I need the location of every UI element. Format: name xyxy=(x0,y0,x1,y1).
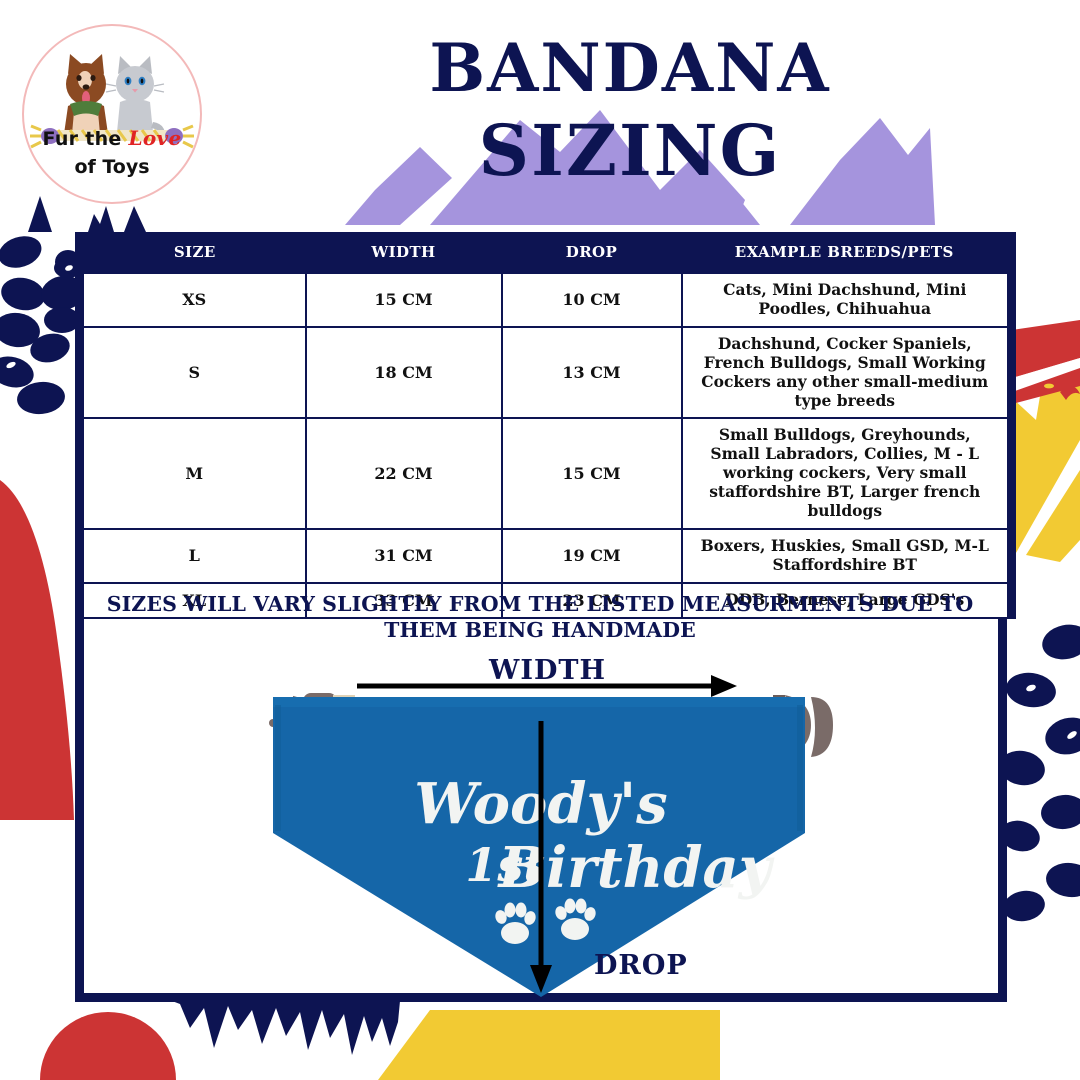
cell-width: 18 CM xyxy=(306,327,502,419)
logo-fur-the: Fur the xyxy=(42,128,121,150)
handmade-disclaimer: SIZES WILL VARY SLIGHTLY FROM THE LISTED… xyxy=(95,592,985,643)
cell-width: 22 CM xyxy=(306,418,502,529)
red-bottom-circle xyxy=(40,1012,176,1080)
bandana-illustration: Woody's 1st Birthday xyxy=(75,645,1007,1000)
cell-size: M xyxy=(80,418,306,529)
cell-width: 15 CM xyxy=(306,273,502,327)
sizing-table: SIZE WIDTH DROP EXAMPLE BREEDS/PETS XS 1… xyxy=(75,232,1016,619)
width-label: WIDTH xyxy=(489,655,606,686)
cell-breeds: Cats, Mini Dachshund, Mini Poodles, Chih… xyxy=(682,273,1012,327)
brand-logo: Fur the Love of Toys xyxy=(22,24,202,204)
cell-drop: 10 CM xyxy=(502,273,682,327)
table-row: L 31 CM 19 CM Boxers, Huskies, Small GSD… xyxy=(80,529,1012,583)
bandana-text-birthday: Birthday xyxy=(497,835,775,901)
title-line-1: BANDANA xyxy=(300,38,960,99)
header-drop: DROP xyxy=(502,232,682,273)
cell-drop: 19 CM xyxy=(502,529,682,583)
logo-love-word: Love xyxy=(129,126,182,150)
red-right-band xyxy=(1012,320,1080,404)
table-row: XS 15 CM 10 CM Cats, Mini Dachshund, Min… xyxy=(80,273,1012,327)
red-left-shape xyxy=(0,480,74,820)
cell-size: L xyxy=(80,529,306,583)
table-row: S 18 CM 13 CM Dachshund, Cocker Spaniels… xyxy=(80,327,1012,419)
bandana-diagram: Woody's 1st Birthday xyxy=(75,645,1007,1000)
cell-size: XS xyxy=(80,273,306,327)
cell-drop: 15 CM xyxy=(502,418,682,529)
drop-label: DROP xyxy=(594,950,688,981)
table-row: M 22 CM 15 CM Small Bulldogs, Greyhounds… xyxy=(80,418,1012,529)
logo-text-line2: of Toys xyxy=(24,156,200,178)
dog-icon xyxy=(64,54,108,134)
cell-breeds: Small Bulldogs, Greyhounds, Small Labrad… xyxy=(682,418,1012,529)
cell-breeds: Boxers, Huskies, Small GSD, M-L Stafford… xyxy=(682,529,1012,583)
yellow-bottom-shape xyxy=(378,1010,720,1080)
table-header-row: SIZE WIDTH DROP EXAMPLE BREEDS/PETS xyxy=(80,232,1012,273)
logo-text-line1: Fur the Love xyxy=(24,126,200,150)
poster-canvas: Fur the Love of Toys BANDANA SIZING SIZE… xyxy=(0,0,1080,1080)
navy-dot-cluster-bottom-right xyxy=(996,620,1080,924)
cell-drop: 13 CM xyxy=(502,327,682,419)
page-title: BANDANA SIZING xyxy=(300,38,960,183)
cell-breeds: Dachshund, Cocker Spaniels, French Bulld… xyxy=(682,327,1012,419)
navy-paint-drip xyxy=(172,1001,400,1055)
header-breeds: EXAMPLE BREEDS/PETS xyxy=(682,232,1012,273)
cell-width: 31 CM xyxy=(306,529,502,583)
header-size: SIZE xyxy=(80,232,306,273)
cell-size: S xyxy=(80,327,306,419)
title-line-2: SIZING xyxy=(300,119,960,183)
header-width: WIDTH xyxy=(306,232,502,273)
